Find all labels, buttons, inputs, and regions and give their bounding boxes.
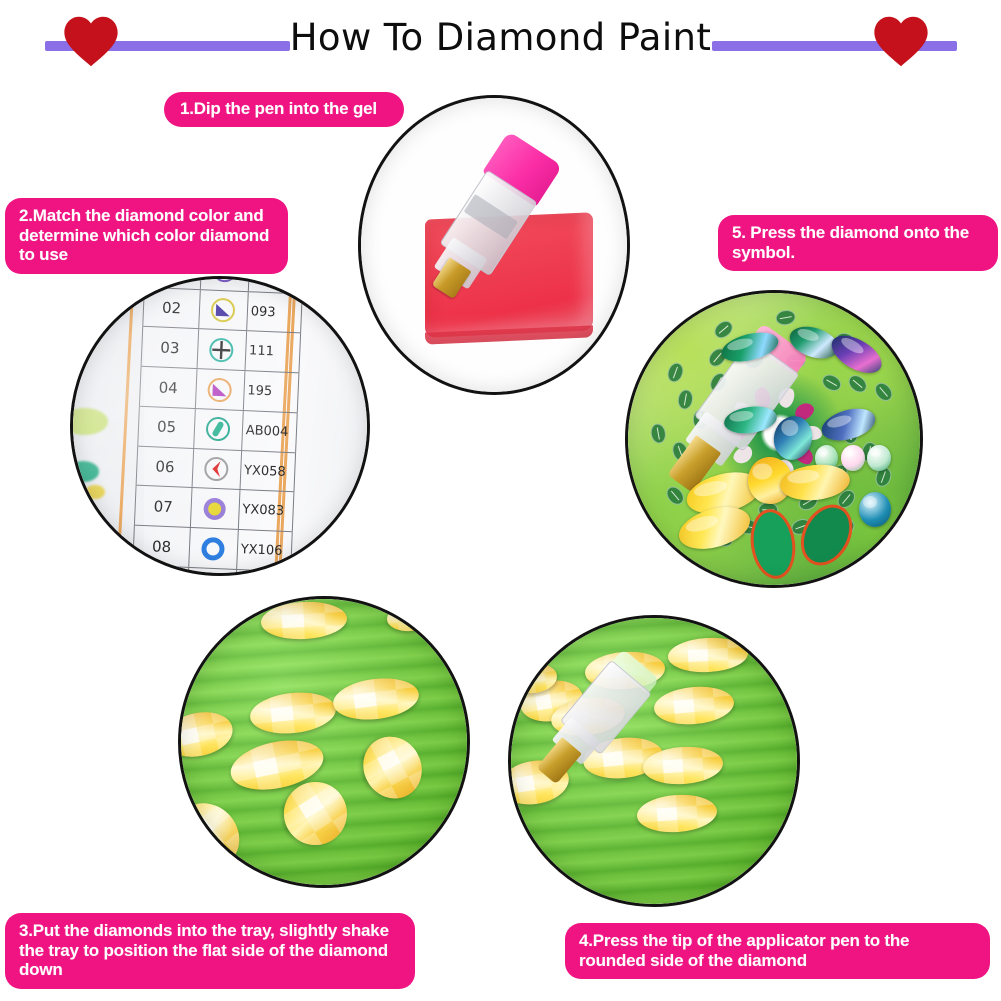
rhinestone-diamond — [859, 492, 891, 527]
chart-cell-symbol — [194, 409, 243, 450]
step-4-photo — [508, 615, 800, 907]
step-4-label: 4.Press the tip of the applicator pen to… — [565, 923, 990, 979]
page-title: How To Diamond Paint — [0, 16, 1001, 60]
step-5-label: 5. Press the diamond onto the symbol. — [718, 215, 998, 271]
step-5-photo — [625, 290, 923, 588]
chart-cell-symbol — [189, 528, 238, 569]
yellow-marquise-diamond — [641, 744, 723, 787]
chart-cell-code: YX083 — [238, 490, 294, 531]
step-2-photo: 01 02802 09303 11104 19505 AB00406 YX058… — [70, 276, 370, 576]
chart-cell-number: 08 — [132, 525, 191, 566]
chart-cell-code: 195 — [243, 371, 299, 412]
open-ring-icon — [200, 535, 227, 562]
filled-triangle-circle-icon — [206, 376, 233, 403]
chart-row: 08YX106 — [132, 525, 292, 571]
color-symbol-chart-table: 01 02802 09303 11104 19505 AB00406 YX058… — [130, 279, 304, 573]
chart-row: 03 111 — [140, 327, 300, 373]
slash-bar-circle-icon — [205, 415, 232, 442]
chart-cell-symbol — [191, 488, 240, 529]
left-chevron-circle-icon — [203, 455, 230, 482]
chart-cell-code: AB004 — [242, 411, 298, 452]
chart-cell-symbol — [201, 279, 250, 291]
plus-circle-icon — [208, 336, 235, 363]
chart-cell-symbol — [192, 448, 241, 489]
filled-triangle-circle-icon — [210, 296, 237, 323]
yellow-marquise-diamond — [386, 603, 433, 632]
chart-cell-code: YX058 — [240, 450, 296, 491]
yellow-marquise-diamond — [653, 683, 736, 727]
step-3-photo — [178, 596, 470, 888]
chart-cell-code: 111 — [245, 331, 301, 372]
chart-cell-number: 03 — [140, 327, 199, 368]
step-3-label: 3.Put the diamonds into the tray, slight… — [5, 913, 415, 989]
yellow-marquise-diamond — [667, 636, 749, 674]
yellow-marquise-diamond — [636, 793, 718, 836]
chart-cell-code: 093 — [247, 292, 303, 333]
chart-cell-code: YX106 — [237, 530, 293, 571]
chart-row: 05 AB004 — [137, 406, 297, 452]
step-2-label: 2.Match the diamond color and determine … — [5, 198, 288, 274]
page-header: How To Diamond Paint — [0, 0, 1001, 80]
chart-cell-symbol — [199, 290, 248, 331]
chart-row: 04 195 — [139, 367, 299, 413]
yellow-marquise-diamond — [511, 661, 559, 696]
chart-cell-number: 02 — [142, 287, 201, 328]
chart-cell-number: 05 — [137, 406, 196, 447]
chart-cell-number: 07 — [134, 486, 193, 527]
chart-cell-symbol — [197, 329, 246, 370]
yellow-marquise-diamond — [260, 600, 348, 642]
chart-cell-code: 028 — [248, 279, 304, 293]
chart-cell-number: 06 — [135, 446, 194, 487]
filled-dot-ring-icon — [201, 495, 228, 522]
step-1-photo — [358, 95, 630, 395]
double-dot-circle-icon — [211, 279, 238, 284]
chart-cell-number: 04 — [139, 367, 198, 408]
chart-row: 02 093 — [142, 287, 302, 333]
chart-cell-symbol — [196, 369, 245, 410]
chart-row: 06 YX058 — [135, 446, 295, 492]
chart-row: 07 YX083 — [134, 486, 294, 532]
